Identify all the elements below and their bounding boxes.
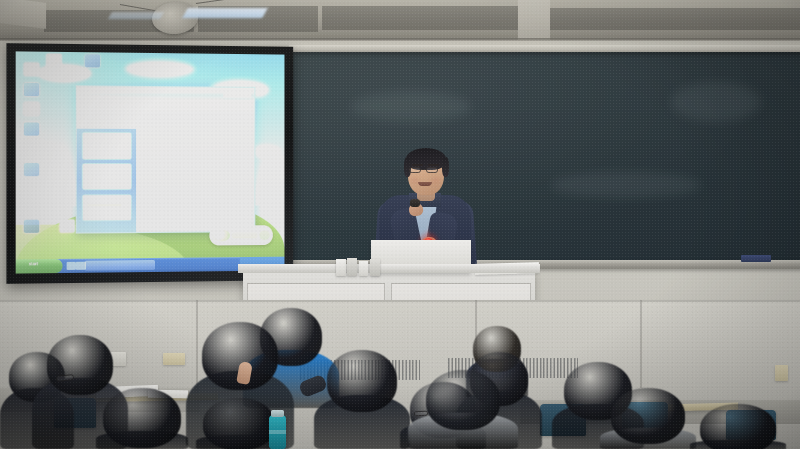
task-panel-2[interactable]	[81, 163, 132, 191]
blackboard-assembly	[291, 52, 800, 270]
task-panel-1[interactable]	[81, 132, 132, 160]
student-far-right-2	[690, 404, 786, 449]
floating-toolbar-pill[interactable]	[209, 225, 272, 245]
task-pane	[77, 129, 136, 233]
desktop-icon-4[interactable]	[24, 123, 39, 136]
folders-icon[interactable]	[147, 106, 156, 113]
student-head	[611, 388, 685, 444]
quicklaunch-icon-1[interactable]	[67, 262, 76, 271]
ceiling-recess-right	[550, 8, 800, 30]
address-bar[interactable]	[77, 117, 255, 129]
desktop-icon-11[interactable]	[84, 54, 99, 67]
desktop-icon-5[interactable]	[24, 142, 39, 155]
student-glasses-icon-2	[414, 411, 428, 417]
presenter-brow-right	[428, 164, 439, 166]
window-titlebar[interactable]	[77, 86, 255, 103]
back-icon[interactable]	[84, 106, 93, 113]
explorer-window[interactable]	[76, 85, 256, 233]
wall-outlet-3	[775, 365, 788, 381]
task-panel-3-header	[86, 197, 121, 200]
column-header-row	[140, 132, 251, 138]
lecture-hall-photo: start	[0, 0, 800, 449]
student-head	[203, 398, 275, 449]
student-head	[103, 388, 181, 448]
window-toolbar[interactable]	[77, 102, 255, 117]
window-controls[interactable]	[223, 91, 251, 99]
ceiling-light-strip	[182, 8, 267, 18]
up-icon[interactable]	[113, 106, 122, 113]
glasses-bridge	[420, 169, 426, 170]
desktop-icon-1[interactable]	[24, 63, 39, 76]
student-far-right-1	[600, 388, 696, 449]
student-gray-hood	[408, 370, 518, 449]
chalk-box-2	[347, 258, 357, 276]
presenter-hair-side-right	[442, 157, 449, 177]
desktop-icon-3[interactable]	[24, 103, 39, 116]
chalk-box-1	[336, 259, 346, 276]
desktop-icon-2[interactable]	[24, 83, 39, 96]
window-content-pane[interactable]	[136, 129, 254, 232]
taskbar-item-1[interactable]	[84, 260, 154, 271]
column-header-2[interactable]	[174, 133, 192, 136]
desktop-icon-9[interactable]	[60, 220, 75, 233]
desktop-icon-6[interactable]	[24, 162, 39, 175]
student-right-dark	[314, 350, 410, 449]
column-header-3[interactable]	[198, 133, 214, 136]
ceiling-recess-center	[322, 6, 522, 30]
task-panel-3[interactable]	[81, 194, 132, 222]
forward-icon[interactable]	[97, 106, 106, 113]
water-bottle-cap	[271, 410, 284, 417]
search-icon[interactable]	[133, 106, 142, 113]
held-object	[410, 199, 420, 207]
task-panel-1-header	[86, 135, 121, 138]
desktop-icon-7[interactable]	[24, 182, 39, 195]
start-button[interactable]: start	[16, 259, 63, 274]
views-icon[interactable]	[167, 106, 176, 113]
ceiling-light-strip-2	[108, 12, 164, 19]
pill-slider[interactable]	[232, 232, 258, 239]
water-bottle-band	[269, 430, 286, 434]
projection-screen-frame: start	[6, 43, 293, 284]
pill-record-icon[interactable]	[212, 229, 229, 241]
column-header-1[interactable]	[142, 133, 167, 136]
task-panel-2-header	[86, 166, 121, 169]
desktop-icon-10[interactable]	[46, 54, 61, 67]
projection-screen[interactable]: start	[16, 51, 285, 273]
blackboard-eraser	[741, 255, 771, 262]
blackboard	[291, 52, 800, 262]
start-label: start	[29, 261, 38, 266]
presenter-mouth	[418, 182, 432, 186]
student-left-3	[96, 388, 188, 449]
lectern-top-edge	[238, 264, 540, 273]
student-head	[700, 404, 776, 449]
pill-menu-icon[interactable]	[260, 230, 270, 239]
ceiling-beam-1	[518, 0, 550, 40]
chalk-box-4	[370, 259, 380, 276]
desktop-icon-8[interactable]	[24, 220, 39, 233]
ceiling-wall-edge	[0, 38, 800, 41]
wall-outlet-2	[163, 353, 185, 365]
glasses-icon-right	[426, 167, 438, 173]
student-head	[47, 335, 113, 395]
presenter-brow-left	[412, 164, 423, 166]
column-header-4[interactable]	[220, 133, 244, 136]
blackboard-top-trim	[289, 45, 800, 52]
student-head	[426, 370, 500, 430]
chalk-box-3	[359, 261, 368, 276]
student-head	[327, 350, 397, 412]
